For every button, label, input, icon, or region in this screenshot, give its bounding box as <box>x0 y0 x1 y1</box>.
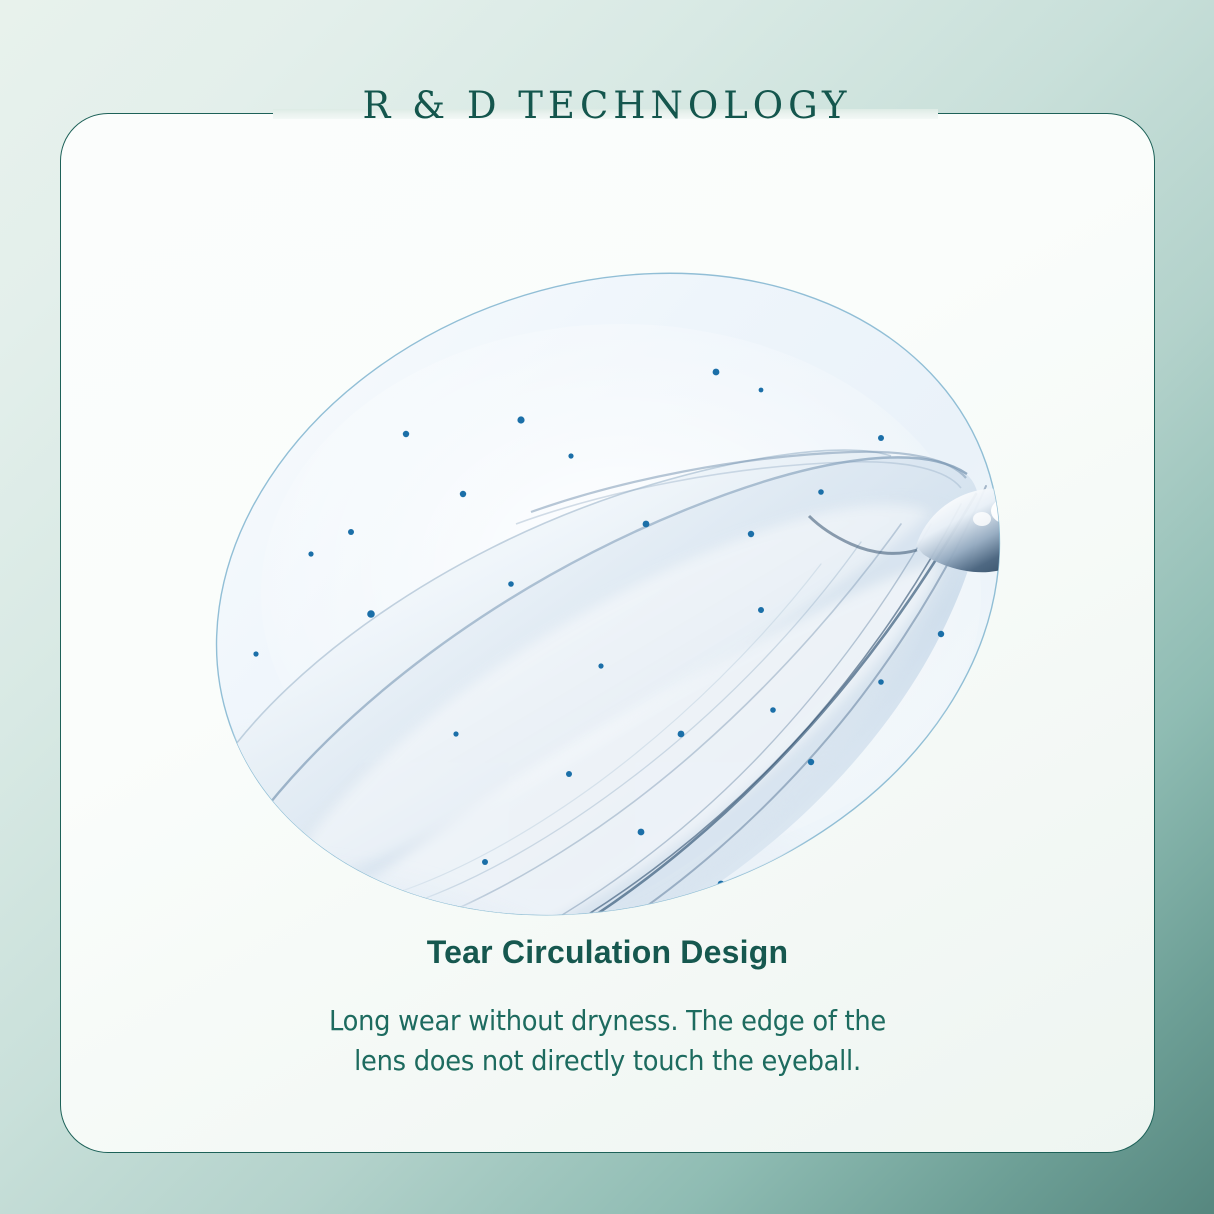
caption-block: Tear Circulation Design Long wear withou… <box>61 934 1154 1081</box>
heading-border-gap <box>273 109 938 119</box>
feature-title: Tear Circulation Design <box>61 934 1154 971</box>
hero-illustration <box>61 194 1156 1014</box>
feature-description: Long wear without dryness. The edge of t… <box>105 1001 1111 1081</box>
contact-lens-illustration <box>61 194 1156 1014</box>
content-card: Tear Circulation Design Long wear withou… <box>60 113 1155 1153</box>
feature-description-line-2: lens does not directly touch the eyeball… <box>105 1041 1111 1081</box>
feature-description-line-1: Long wear without dryness. The edge of t… <box>105 1001 1111 1041</box>
